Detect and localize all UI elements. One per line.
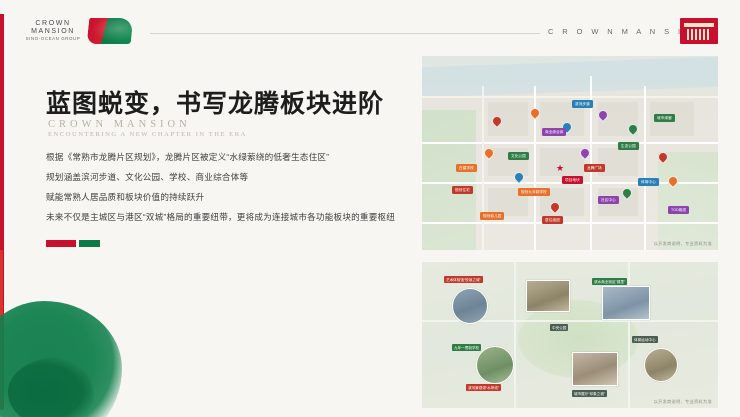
map-poi-label: 项目地块	[562, 176, 583, 184]
map-road	[422, 96, 718, 98]
map-poi-label: 社区中心	[598, 196, 619, 204]
map-poi-label: 生态公园	[618, 142, 639, 150]
emblem-roof-shape	[684, 23, 714, 27]
body-paragraph: 未来不仅是主城区与港区“双城”格局的重要纽带，更将成为连接城市各功能板块的重要枢…	[46, 211, 416, 224]
map-poi-label: 滨河步道	[572, 100, 593, 108]
map-pin-icon	[622, 188, 630, 198]
map-pin-icon	[580, 148, 588, 158]
map-pin-icon	[628, 124, 636, 134]
map-pin-icon	[530, 108, 538, 118]
map-pin-icon	[484, 148, 492, 158]
render-poi-label: 艺术体验馆“悦读之城”	[444, 276, 483, 283]
accent-bar-red	[46, 240, 76, 247]
map-caption: 以开发商说明、专业资料为准	[654, 241, 712, 247]
render-road	[628, 262, 630, 408]
longteng-district-render-map[interactable]: 艺术体验馆“悦读之城”滨水商业街区“锦里”中央公园体育运动中心九年一贯制学校滨河…	[422, 262, 718, 408]
map-road	[644, 86, 646, 250]
body-paragraph: 根据《常熟市龙腾片区规划》，龙腾片区被定义“水绿萦绕的低奢生态住区”	[46, 151, 416, 164]
render-photo-thumbnail	[476, 346, 514, 384]
render-photo-thumbnail	[526, 280, 570, 312]
render-poi-label: 体育运动中心	[632, 336, 658, 343]
map-pin-icon	[514, 172, 522, 182]
render-photo-thumbnail	[602, 286, 650, 320]
render-poi-label: 城市展厅“印象之城”	[572, 390, 607, 397]
map-poi-label: 商业综合体	[542, 128, 566, 136]
header-divider	[150, 33, 540, 34]
map-poi-label: 文化公园	[508, 152, 529, 160]
longteng-district-plan-map[interactable]: ★ 在建学校规划住宅文化公园商业综合体滨河步道规划九年制学校龙腾广场生态公园社区…	[422, 56, 718, 250]
page-subtitle-en: CROWN MANSION	[48, 119, 191, 130]
map-road	[482, 86, 484, 250]
map-pin-icon	[658, 152, 666, 162]
map-green-area-right	[658, 152, 718, 250]
map-caption: 以开发商说明、专业资料为准	[654, 399, 712, 405]
map-green-area-left	[422, 110, 476, 250]
accent-bar-green	[79, 240, 100, 247]
page-title: 蓝图蜕变，书写龙腾板块进阶	[46, 84, 384, 120]
accent-bar	[46, 240, 100, 247]
project-star-icon: ★	[556, 164, 564, 173]
map-road	[422, 222, 718, 224]
map-poi-label: 体育中心	[638, 178, 659, 186]
brand-logo: CROWN MANSION SINO-OCEAN GROUP	[22, 20, 84, 42]
brand-logo-line2: MANSION	[22, 28, 84, 36]
emblem-body-shape	[687, 29, 711, 40]
render-poi-label: 滨河景观带“水岸线”	[466, 384, 501, 391]
brand-flag-icon	[87, 18, 134, 44]
render-poi-label: 中央公园	[550, 324, 568, 331]
slide-header: CROWN MANSION SINO-OCEAN GROUP C R O W N…	[0, 0, 740, 58]
render-poi-label: 滨水商业街区“锦里”	[592, 278, 627, 285]
map-poi-label: 龙腾广场	[584, 164, 605, 172]
mansion-emblem-icon	[680, 18, 718, 44]
map-poi-label: 城市绿廊	[654, 114, 675, 122]
map-poi-label: 规划住宅	[452, 186, 473, 194]
map-poi-label: TOD枢纽	[668, 206, 689, 214]
map-road	[422, 142, 718, 144]
brand-logo-line1: CROWN	[22, 20, 84, 28]
map-pin-icon	[668, 176, 676, 186]
body-paragraphs: 根据《常熟市龙腾片区规划》，龙腾片区被定义“水绿萦绕的低奢生态住区” 规划涵盖滨…	[46, 151, 416, 231]
render-road	[514, 262, 516, 408]
brand-logo-line3: SINO-OCEAN GROUP	[22, 36, 84, 42]
map-poi-label: 规划九年制学校	[518, 188, 550, 196]
render-photo-thumbnail	[644, 348, 678, 382]
map-pin-icon	[598, 110, 606, 120]
render-photo-thumbnail	[572, 352, 618, 386]
page-tagline-en: ENCOUNTERING A NEW CHAPTER IN THE ERA	[48, 131, 247, 138]
render-poi-label: 九年一贯制学校	[452, 344, 481, 351]
body-paragraph: 规划涵盖滨河步道、文化公园、学校、商业综合体等	[46, 171, 416, 184]
map-poi-label: 居住组团	[542, 216, 563, 224]
map-poi-label: 在建学校	[456, 164, 477, 172]
map-poi-label: 规划幼儿园	[480, 212, 504, 220]
map-pin-icon	[550, 202, 558, 212]
map-pin-icon	[492, 116, 500, 126]
body-paragraph: 赋能常熟人居品质和板块价值的持续跃升	[46, 191, 416, 204]
render-photo-thumbnail	[452, 288, 488, 324]
slide-root: CROWN MANSION SINO-OCEAN GROUP C R O W N…	[0, 0, 740, 417]
